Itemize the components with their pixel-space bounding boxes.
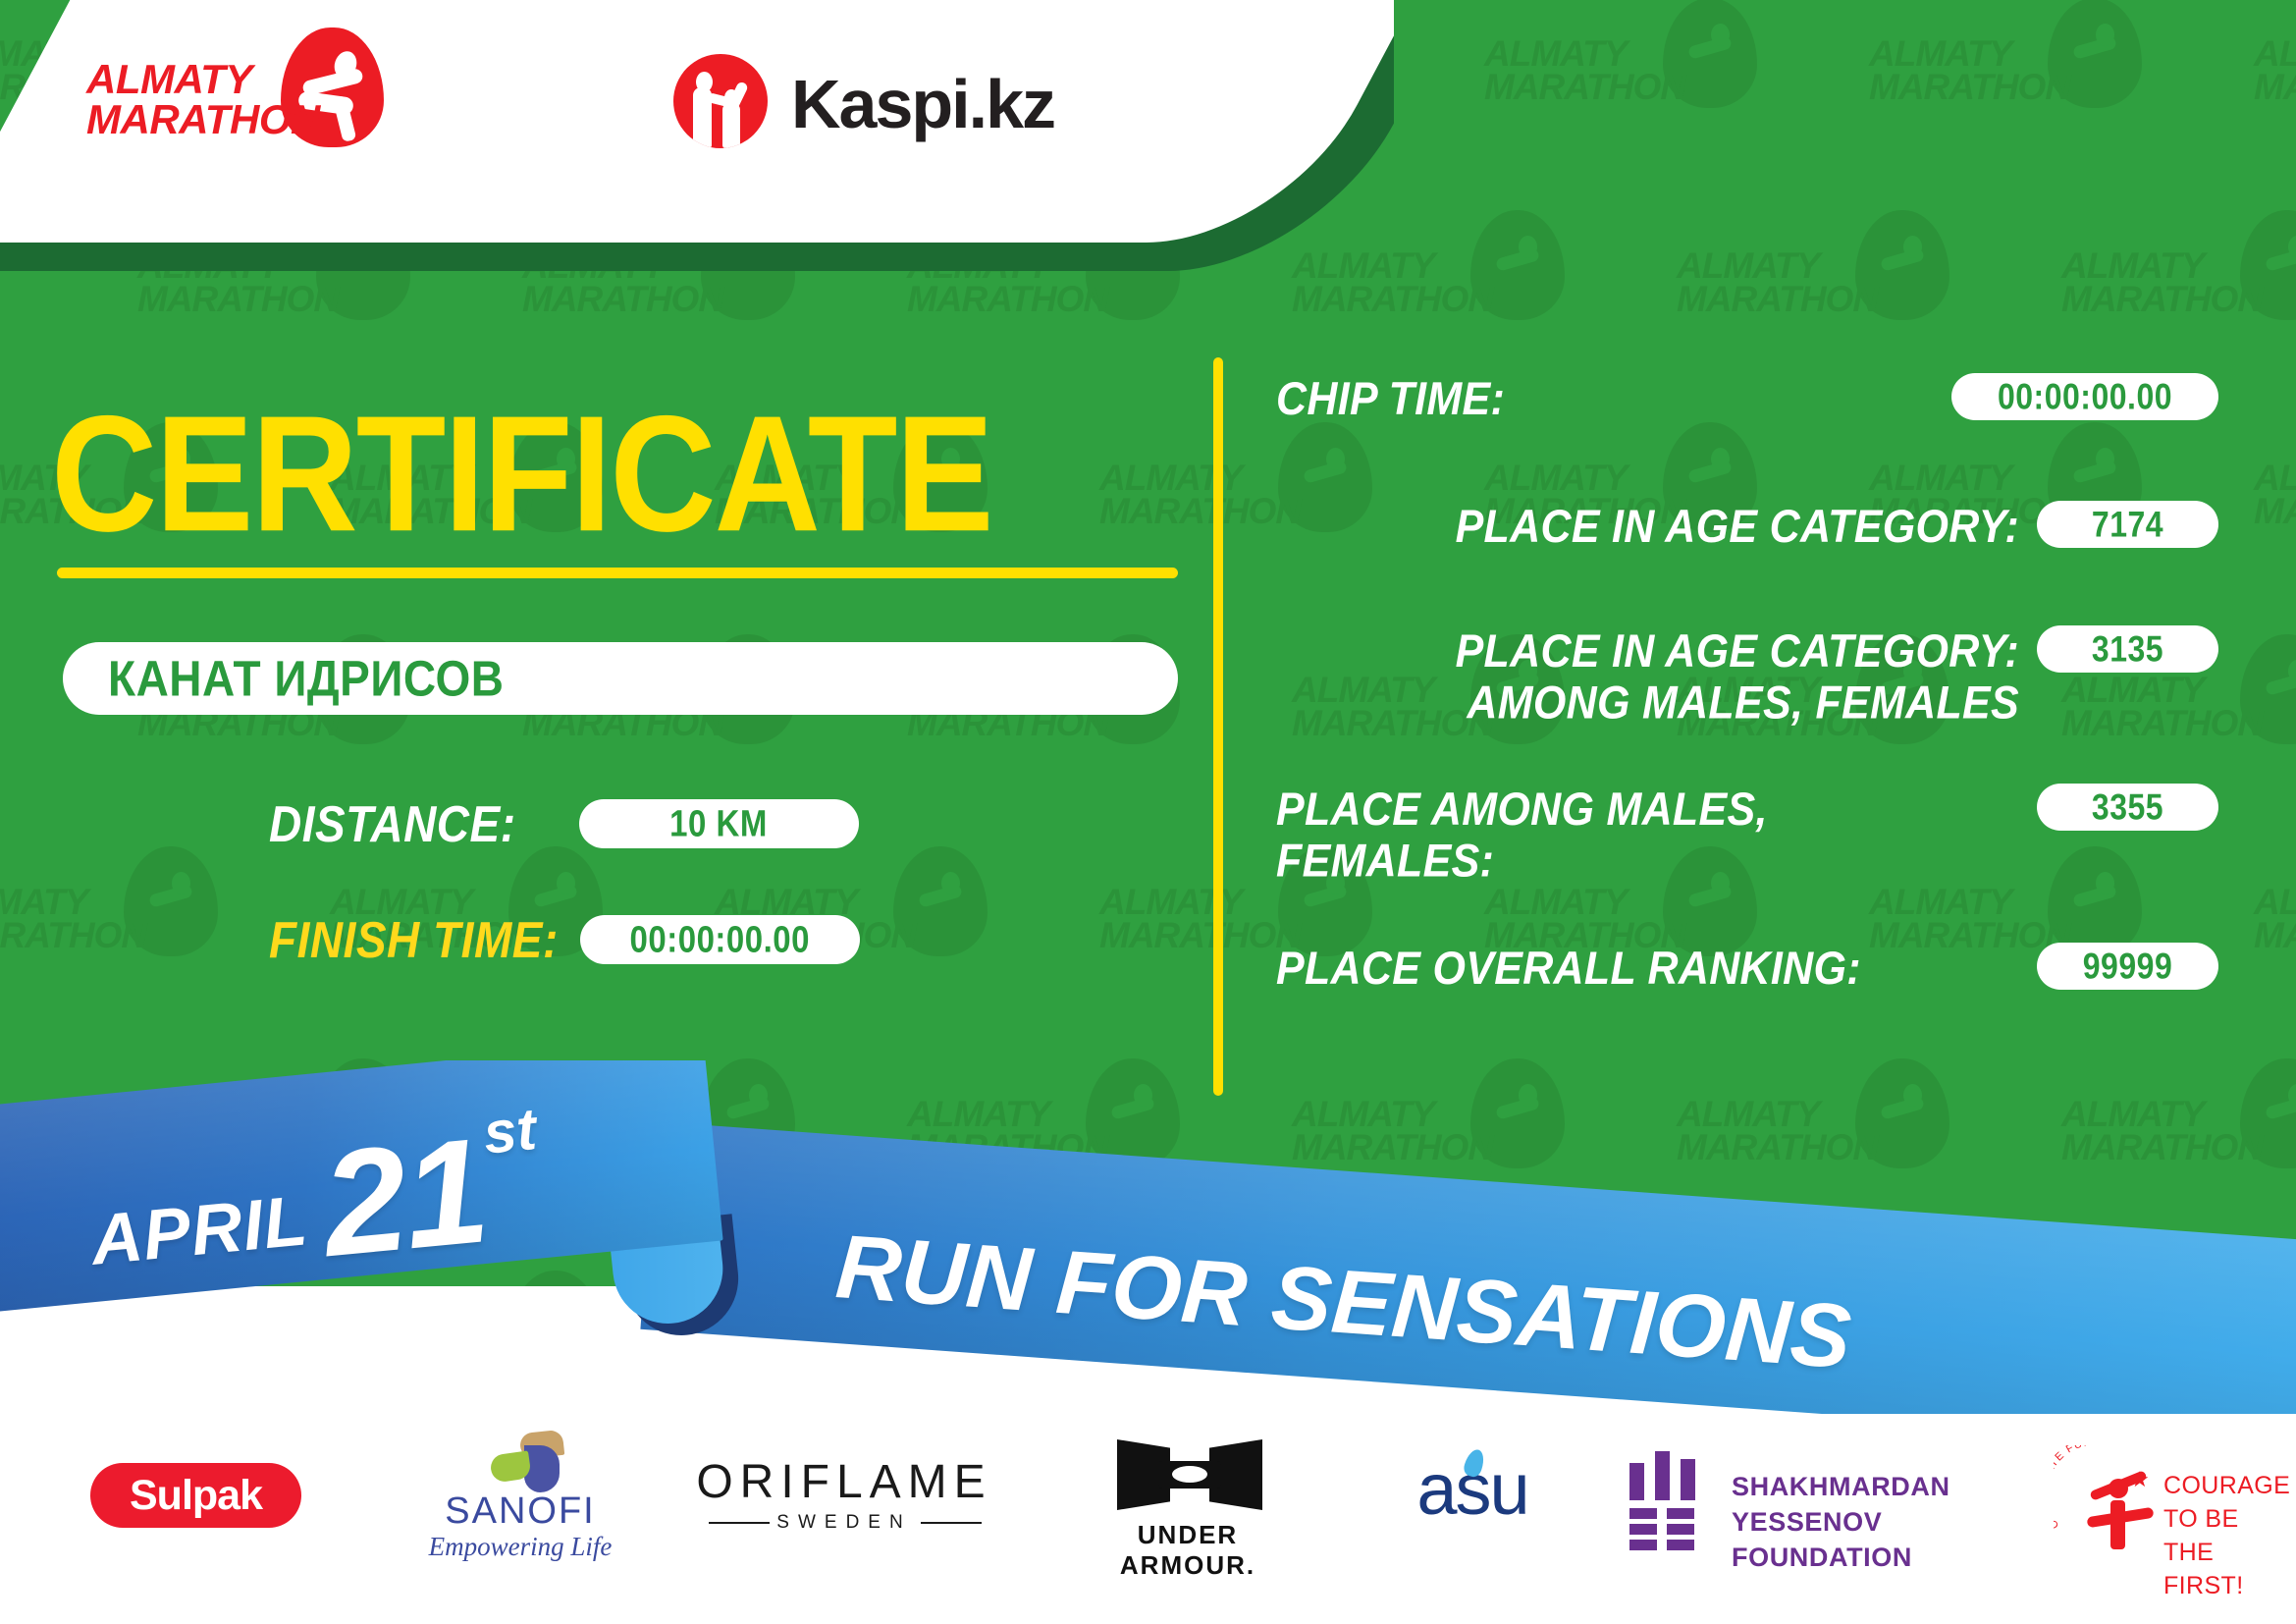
finish-time-value-pill: 00:00:00.00: [580, 915, 860, 964]
finish-time-label: FINISH TIME:: [269, 910, 559, 969]
watermark-line2: MARATHON: [2254, 71, 2296, 104]
watermark-tile: ALMATYMARATHON: [2250, 1233, 2296, 1286]
distance-label: DISTANCE:: [269, 794, 516, 853]
sponsor-bar: Sulpak SANOFI Empowering Life ORIFLAME S…: [0, 1414, 2296, 1624]
watermark-tile: ALMATYMARATHON: [2057, 1021, 2296, 1188]
almaty-marathon-wordmark: ALMATY MARATHON: [86, 59, 322, 139]
watermark-tile: ALMATYMARATHON: [326, 1233, 640, 1286]
watermark-runner-icon: [2048, 0, 2142, 108]
watermark-tile: ALMATYMARATHON: [1095, 1233, 1410, 1286]
sponsor-asu: asu: [1364, 1453, 1580, 1542]
place-age-category-label: PLACE IN AGE CATEGORY:: [1276, 501, 2019, 553]
yessenov-bar-8: [1629, 1540, 1657, 1550]
watermark-line1: ALMATY: [2254, 37, 2296, 71]
courage-head-icon: [2109, 1479, 2128, 1498]
watermark-runner-icon: [2240, 634, 2296, 744]
courage-wordmark: COURAGE TO BE THE FIRST!: [2163, 1469, 2281, 1602]
almaty-marathon-logo: ALMATY MARATHON: [86, 45, 410, 153]
finish-time-row: FINISH TIME: 00:00:00.00: [269, 913, 860, 966]
title-underline: [57, 568, 1178, 578]
watermark-line1: ALMATY: [2061, 249, 2204, 283]
oriflame-wordmark: ORIFLAME: [687, 1455, 1001, 1509]
watermark-line2: MARATHON: [907, 1131, 1108, 1164]
watermark-tile: ALMATYMARATHON: [2057, 173, 2296, 340]
courage-line2: TO BE: [2163, 1502, 2281, 1536]
place-age-category-gender-value-pill: 3135: [2037, 625, 2218, 673]
watermark-runner-icon: [316, 1058, 410, 1168]
result-row-place-among-gender: PLACE AMONG MALES, FEMALES: 3355: [1276, 784, 2218, 878]
watermark-runner-icon: [124, 846, 218, 956]
watermark-line2: MARATHON: [2061, 1131, 2263, 1164]
ua-center-oval-icon: [1172, 1466, 1207, 1483]
watermark-line1: ALMATY: [907, 1098, 1049, 1131]
watermark-line2: MARATHON: [1869, 71, 2070, 104]
watermark-line2: MARATHON: [1099, 495, 1301, 528]
watermark-runner-icon: [2240, 1058, 2296, 1168]
yessenov-bar-2: [1655, 1451, 1670, 1500]
yessenov-line2: FOUNDATION: [1732, 1540, 2042, 1575]
watermark-line1: ALMATY: [1484, 461, 1627, 495]
sponsor-sulpak: Sulpak: [90, 1463, 301, 1528]
place-overall-label: PLACE OVERALL RANKING:: [1276, 943, 2019, 995]
courage-runner-icon: ★: [2091, 1467, 2148, 1553]
sponsor-sanofi: SANOFI Empowering Life: [402, 1432, 638, 1559]
watermark-tile: ALMATYMARATHON: [1673, 173, 1987, 340]
watermark-line2: MARATHON: [1484, 71, 1685, 104]
watermark-runner-icon: [2048, 1271, 2142, 1286]
watermark-line1: ALMATY: [1869, 37, 2011, 71]
watermark-line2: MARATHON: [1099, 919, 1301, 952]
column-divider: [1213, 357, 1223, 1096]
courage-line3: THE FIRST!: [2163, 1536, 2281, 1602]
watermark-tile: ALMATYMARATHON: [1480, 1233, 1794, 1286]
sulpak-wordmark: Sulpak: [130, 1472, 262, 1520]
watermark-line1: ALMATY: [2254, 886, 2296, 919]
watermark-tile: ALMATYMARATHON: [1865, 0, 2179, 128]
watermark-tile: ALMATYMARATHON: [2250, 809, 2296, 976]
watermark-line2: MARATHON: [0, 919, 146, 952]
sponsor-oriflame: ORIFLAME SWEDEN: [687, 1455, 1001, 1540]
watermark-tile: ALMATYMARATHON: [1673, 1021, 1987, 1188]
sponsor-courage-to-be-the-first: CORPORATE FUND ★ COURAGE TO BE THE FIRST…: [2054, 1445, 2279, 1559]
certificate-body: ALMATYMARATHONALMATYMARATHONALMATYMARATH…: [0, 0, 2296, 1286]
distance-value: 10 KM: [669, 802, 768, 845]
watermark-line2: MARATHON: [2254, 919, 2296, 952]
watermark-line1: ALMATY: [1677, 249, 1819, 283]
watermark-runner-icon: [1278, 1271, 1372, 1286]
place-age-category-gender-label: PLACE IN AGE CATEGORY: AMONG MALES, FEMA…: [1276, 625, 2019, 730]
yessenov-wordmark: SHAKHMARDAN YESSENOV FOUNDATION: [1732, 1469, 2042, 1576]
runner-leg2-icon: [333, 95, 357, 142]
sponsor-under-armour: UNDER ARMOUR.: [1070, 1439, 1306, 1559]
oriflame-subtitle: SWEDEN: [687, 1512, 1001, 1534]
place-among-gender-label: PLACE AMONG MALES, FEMALES:: [1276, 784, 2019, 888]
watermark-runner-icon: [124, 1271, 218, 1286]
yessenov-bars-icon: [1629, 1451, 1712, 1545]
watermark-runner-icon: [1470, 210, 1565, 320]
sponsor-shakhmardan-yessenov-foundation: SHAKHMARDAN YESSENOV FOUNDATION: [1629, 1447, 2042, 1553]
watermark-tile: ALMATYMARATHON: [2250, 0, 2296, 128]
watermark-tile: ALMATYMARATHON: [133, 1021, 448, 1188]
watermark-runner-icon: [893, 1271, 988, 1286]
yessenov-bar-6: [1629, 1524, 1657, 1535]
watermark-line2: MARATHON: [1677, 283, 1878, 316]
place-age-category-value: 7174: [2092, 504, 2163, 546]
watermark-line2: MARATHON: [522, 1131, 723, 1164]
place-among-gender-value-pill: 3355: [2037, 784, 2218, 831]
participant-name-value: КАНАТ ИДРИСОВ: [108, 649, 504, 707]
watermark-tile: ALMATYMARATHON: [0, 809, 255, 976]
watermark-tile: ALMATYMARATHON: [1288, 1021, 1602, 1188]
place-among-gender-value: 3355: [2092, 786, 2163, 829]
distance-row: DISTANCE: 10 KM: [269, 797, 859, 850]
kaspi-people-icon: [673, 54, 768, 148]
watermark-line2: MARATHON: [2254, 495, 2296, 528]
watermark-line1: ALMATY: [1677, 1098, 1819, 1131]
almaty-line2: MARATHON: [86, 99, 322, 139]
place-age-category-value-pill: 7174: [2037, 501, 2218, 548]
watermark-line2: MARATHON: [137, 1131, 339, 1164]
distance-value-pill: 10 KM: [579, 799, 859, 848]
kaspi-wordmark: Kaspi.kz: [791, 65, 1054, 143]
watermark-runner-icon: [893, 846, 988, 956]
place-overall-value-pill: 99999: [2037, 943, 2218, 990]
chip-time-label: CHIP TIME:: [1276, 373, 1934, 425]
yessenov-bar-4: [1629, 1508, 1657, 1519]
watermark-runner-icon: [1663, 1271, 1757, 1286]
watermark-line1: ALMATY: [522, 1098, 665, 1131]
watermark-line1: ALMATY: [2061, 1098, 2204, 1131]
watermark-line2: MARATHON: [1677, 1131, 1878, 1164]
chip-time-value: 00:00:00.00: [1998, 376, 2172, 418]
watermark-line1: ALMATY: [1484, 37, 1627, 71]
sanofi-wordmark: SANOFI: [402, 1490, 638, 1533]
result-row-chip-time: CHIP TIME: 00:00:00.00: [1276, 373, 2218, 420]
yessenov-bar-3: [1681, 1459, 1695, 1500]
yessenov-line1: SHAKHMARDAN YESSENOV: [1732, 1469, 2042, 1540]
under-armour-icon: [1117, 1439, 1262, 1510]
watermark-tile: ALMATYMARATHON: [0, 1233, 255, 1286]
result-row-place-overall: PLACE OVERALL RANKING: 99999: [1276, 943, 2218, 990]
courage-body-icon: [2110, 1500, 2125, 1549]
watermark-line1: ALMATY: [137, 1098, 280, 1131]
chip-time-value-pill: 00:00:00.00: [1951, 373, 2218, 420]
watermark-line2: MARATHON: [1292, 1131, 1493, 1164]
yessenov-bar-9: [1667, 1540, 1694, 1550]
watermark-line1: ALMATY: [0, 886, 87, 919]
yessenov-bar-1: [1629, 1463, 1644, 1500]
almaty-line1: ALMATY: [86, 59, 322, 99]
watermark-runner-icon: [1663, 0, 1757, 108]
place-age-category-gender-value: 3135: [2092, 628, 2163, 671]
watermark-runner-icon: [1086, 1058, 1180, 1168]
sanofi-bird-icon: [481, 1432, 567, 1489]
sanofi-tagline: Empowering Life: [402, 1532, 638, 1562]
watermark-line1: ALMATY: [1869, 461, 2011, 495]
under-armour-wordmark: UNDER ARMOUR.: [1070, 1520, 1306, 1581]
watermark-tile: ALMATYMARATHON: [1865, 1233, 2179, 1286]
watermark-line2: MARATHON: [2061, 283, 2263, 316]
watermark-tile: ALMATYMARATHON: [2250, 385, 2296, 552]
watermark-tile: ALMATYMARATHON: [903, 1021, 1217, 1188]
finish-time-value: 00:00:00.00: [630, 918, 810, 961]
watermark-tile: ALMATYMARATHON: [711, 1233, 1025, 1286]
place-overall-value: 99999: [2083, 946, 2172, 988]
watermark-runner-icon: [701, 1058, 795, 1168]
watermark-tile: ALMATYMARATHON: [518, 1021, 832, 1188]
watermark-line1: ALMATY: [1484, 886, 1627, 919]
watermark-line1: ALMATY: [2254, 461, 2296, 495]
watermark-runner-icon: [2240, 210, 2296, 320]
yessenov-bar-5: [1667, 1508, 1694, 1519]
watermark-line1: ALMATY: [1292, 1098, 1434, 1131]
watermark-runner-icon: [1855, 1058, 1949, 1168]
participant-name-field: КАНАТ ИДРИСОВ: [63, 642, 1178, 715]
kaspi-logo: Kaspi.kz: [673, 49, 1086, 157]
watermark-line1: ALMATY: [1869, 886, 2011, 919]
result-row-place-age-category: PLACE IN AGE CATEGORY: 7174: [1276, 501, 2218, 548]
courage-line1: COURAGE: [2163, 1469, 2281, 1502]
watermark-runner-icon: [1855, 210, 1949, 320]
result-row-place-age-category-gender: PLACE IN AGE CATEGORY: AMONG MALES, FEMA…: [1276, 625, 2218, 720]
watermark-runner-icon: [508, 1271, 603, 1286]
watermark-runner-icon: [1470, 1058, 1565, 1168]
page-title: CERTIFICATE: [51, 391, 992, 556]
watermark-tile: ALMATYMARATHON: [1480, 0, 1794, 128]
yessenov-bar-7: [1667, 1524, 1694, 1535]
